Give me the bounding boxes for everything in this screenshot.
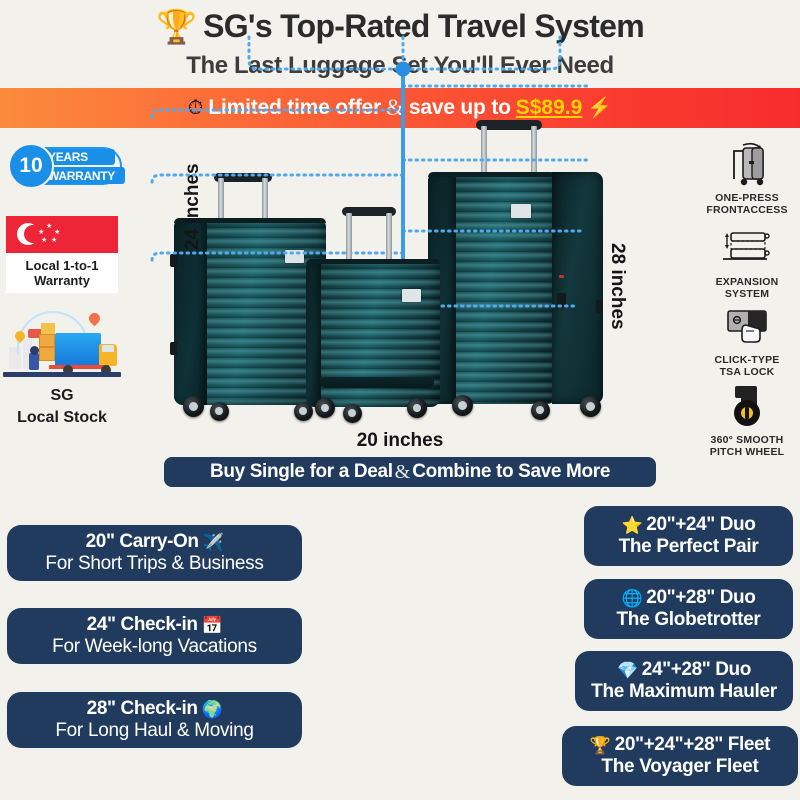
combo-option-fleet-title: 🏆 20"+24"+28" Fleet bbox=[590, 734, 770, 756]
warranty-years-number: 10 bbox=[8, 143, 54, 189]
case-front-access-panel-20 bbox=[320, 377, 434, 388]
ground-line-decor bbox=[3, 372, 121, 377]
calendar-icon: 📅 bbox=[202, 617, 223, 634]
combo-option-fleet-title-text: 20"+24"+28" Fleet bbox=[615, 734, 770, 756]
single-option-20-title: 20" Carry-On ✈️ bbox=[86, 531, 224, 553]
wheel-24-a bbox=[183, 396, 204, 417]
local-stock-line2: Local Stock bbox=[3, 407, 121, 429]
combo-option-20-24-title: ⭐ 20"+24" Duo bbox=[622, 514, 756, 536]
gem-diamond-icon: 💎 bbox=[617, 662, 638, 679]
wheel-20-c bbox=[407, 398, 427, 418]
banner-ampersand: & bbox=[395, 461, 411, 484]
star-icon: ⭐ bbox=[622, 517, 643, 534]
handle-stalk-right-20 bbox=[386, 213, 392, 261]
luggage-case-20 bbox=[306, 259, 440, 407]
globe-earth-icon: 🌍 bbox=[202, 701, 223, 718]
local-stock-line1: SG bbox=[3, 385, 121, 407]
single-option-24-title: 24" Check-in 📅 bbox=[87, 614, 223, 636]
case-side-panel-20 bbox=[306, 259, 321, 407]
wheel-20-a bbox=[315, 398, 335, 418]
feature-label-line1: CLICK-TYPE bbox=[692, 354, 800, 366]
single-option-24-subtitle: For Week-long Vacations bbox=[52, 636, 257, 658]
combo-option-20-28-title: 🌐 20"+28" Duo bbox=[622, 587, 756, 609]
combo-option-20-24-subtitle: The Perfect Pair bbox=[619, 536, 759, 558]
wheel-28-b bbox=[531, 401, 550, 420]
local-stock-caption: SG Local Stock bbox=[3, 385, 121, 428]
banner-text-before: Buy Single for a Deal bbox=[210, 461, 393, 483]
feature-label: CLICK-TYPE TSA LOCK bbox=[692, 354, 800, 379]
combo-option-24-28[interactable]: 💎 24"+28" Duo The Maximum Hauler bbox=[575, 651, 793, 711]
combo-option-20-28-title-text: 20"+28" Duo bbox=[646, 587, 755, 609]
combo-option-20-28[interactable]: 🌐 20"+28" Duo The Globetrotter bbox=[584, 579, 793, 639]
feature-label-line2: TSA LOCK bbox=[692, 366, 800, 378]
handle-stalk-left-20 bbox=[346, 213, 352, 261]
combo-option-20-24-title-text: 20"+24" Duo bbox=[646, 514, 755, 536]
worker-body bbox=[29, 353, 39, 370]
promo-infographic: 🏆 SG's Top-Rated Travel System The Last … bbox=[0, 0, 800, 800]
case-rim-20 bbox=[306, 259, 440, 264]
combine-banner: Buy Single for a Deal & Combine to Save … bbox=[164, 457, 656, 487]
wheel-28-a bbox=[452, 395, 473, 416]
combo-option-24-28-title-text: 24"+28" Duo bbox=[642, 659, 751, 681]
trophy-icon-fleet: 🏆 bbox=[590, 737, 611, 754]
wheel-20-b bbox=[343, 404, 362, 423]
single-option-24-title-text: 24" Check-in bbox=[87, 614, 198, 636]
combo-option-24-28-subtitle: The Maximum Hauler bbox=[591, 681, 777, 703]
single-option-20-subtitle: For Short Trips & Business bbox=[45, 553, 263, 575]
dimension-label-20: 20 inches bbox=[0, 430, 800, 452]
combo-option-fleet-subtitle: The Voyager Fleet bbox=[601, 756, 758, 778]
single-option-28-subtitle: For Long Haul & Moving bbox=[55, 720, 253, 742]
combo-option-20-28-subtitle: The Globetrotter bbox=[616, 609, 760, 631]
wheel-28-c bbox=[580, 396, 601, 417]
globe-meridians-icon: 🌐 bbox=[622, 590, 643, 607]
single-option-28-title: 28" Check-in 🌍 bbox=[87, 698, 223, 720]
case-brand-tag-20 bbox=[402, 289, 421, 302]
banner-text-after: Combine to Save More bbox=[412, 461, 610, 483]
single-option-20[interactable]: 20" Carry-On ✈️ For Short Trips & Busine… bbox=[7, 525, 302, 581]
spinner-wheel-icon bbox=[692, 380, 800, 432]
single-option-20-title-text: 20" Carry-On bbox=[86, 531, 199, 553]
single-option-24[interactable]: 24" Check-in 📅 For Week-long Vacations bbox=[7, 608, 302, 664]
combo-option-20-24[interactable]: ⭐ 20"+24" Duo The Perfect Pair bbox=[584, 506, 793, 566]
single-option-28[interactable]: 28" Check-in 🌍 For Long Haul & Moving bbox=[7, 692, 302, 748]
single-option-28-title-text: 28" Check-in bbox=[87, 698, 198, 720]
combo-option-24-28-title: 💎 24"+28" Duo bbox=[617, 659, 751, 681]
airplane-icon: ✈️ bbox=[203, 534, 224, 551]
truck-stripe bbox=[49, 365, 109, 369]
combo-option-fleet[interactable]: 🏆 20"+24"+28" Fleet The Voyager Fleet bbox=[562, 726, 798, 786]
wheel-24-b bbox=[210, 402, 229, 421]
